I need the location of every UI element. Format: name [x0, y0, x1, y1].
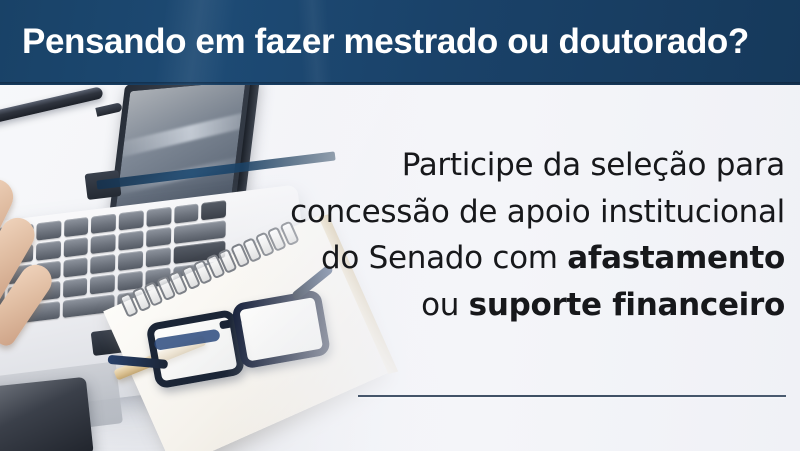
body-copy: Participe da seleção para concessão de a…: [245, 142, 785, 328]
header-band: Pensando em fazer mestrado ou doutorado?: [0, 0, 800, 85]
copy-line-4-regular: ou: [421, 287, 469, 323]
copy-line-3-bold: afastamento: [567, 240, 785, 276]
copy-line-4: ou suporte financeiro: [245, 282, 785, 329]
copy-line-1: Participe da seleção para: [245, 142, 785, 189]
promotional-banner: Pensando em fazer mestrado ou doutorado?…: [0, 0, 800, 451]
header-title: Pensando em fazer mestrado ou doutorado?: [22, 19, 749, 65]
header-bottom-edge: [0, 82, 800, 85]
copy-line-3: do Senado com afastamento: [245, 235, 785, 282]
copy-line-3-regular: do Senado com: [321, 240, 567, 276]
copy-line-4-bold: suporte financeiro: [469, 287, 785, 323]
horizontal-divider: [358, 395, 786, 397]
copy-line-2: concessão de apoio institucional: [245, 189, 785, 236]
